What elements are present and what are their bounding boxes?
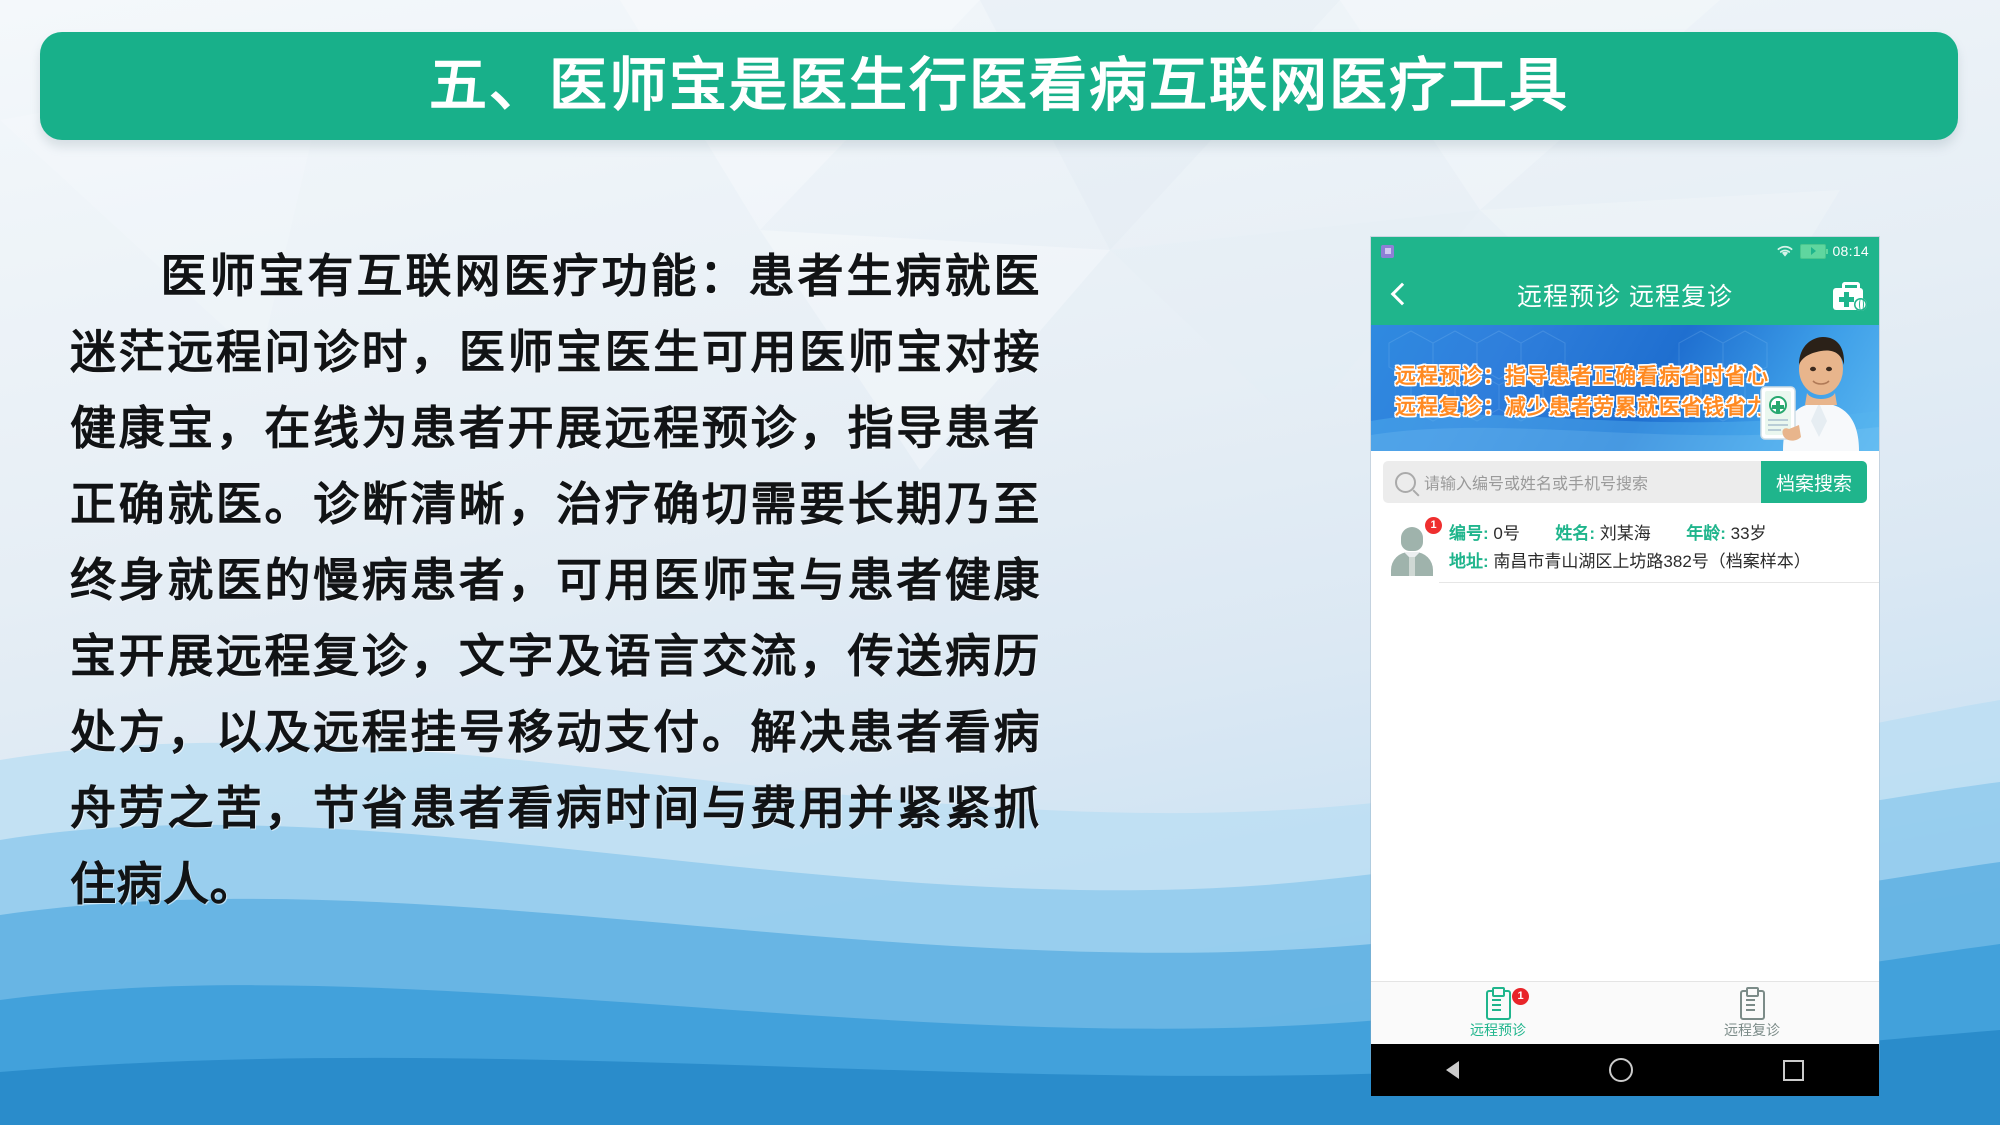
status-bar-right: 08:14 xyxy=(1776,243,1869,259)
patient-name-label: 姓名: xyxy=(1555,524,1595,543)
presentation-slide: 五、医师宝是医生行医看病互联网医疗工具 医师宝有互联网医疗功能：患者生病就医迷茫… xyxy=(0,0,2000,1125)
patient-id-label: 编号: xyxy=(1449,524,1489,543)
app-notification-icon xyxy=(1381,245,1394,258)
body-paragraph: 医师宝有互联网医疗功能：患者生病就医迷茫远程问诊时，医师宝医生可用医师宝对接健康… xyxy=(70,250,1040,910)
back-chevron-icon[interactable] xyxy=(1385,282,1411,308)
tab-remote-pre-consult[interactable]: 远程预诊 1 xyxy=(1371,982,1625,1044)
android-recents-icon[interactable] xyxy=(1783,1060,1804,1081)
archive-search-button[interactable]: 档案搜索 xyxy=(1761,461,1867,503)
app-header-title: 远程预诊 远程复诊 xyxy=(1371,277,1879,313)
doctor-holding-phone-photo xyxy=(1755,325,1875,451)
patient-address-value: 南昌市青山湖区上坊路382号（档案样本） xyxy=(1493,552,1810,571)
bottom-tab-bar: 远程预诊 1 远程复诊 xyxy=(1371,981,1879,1044)
battery-icon xyxy=(1800,244,1826,259)
status-bar-left xyxy=(1381,245,1394,258)
patient-age-value: 33岁 xyxy=(1731,524,1767,543)
banner-line-1: 远程预诊：指导患者正确看病省时省心 xyxy=(1395,361,1769,392)
promo-banner[interactable]: 远程预诊：指导患者正确看病省时省心 远程复诊：减少患者劳累就医省钱省力 xyxy=(1371,325,1879,451)
phone-status-bar: 08:14 xyxy=(1371,237,1879,265)
patient-list-item[interactable]: 1 编号: 0号 姓名: 刘某海 年龄: 33岁 地址: 南昌市青山湖区上坊路3… xyxy=(1371,509,1879,576)
status-bar-clock: 08:14 xyxy=(1832,243,1869,259)
search-input[interactable]: 请输入编号或姓名或手机号搜索 xyxy=(1424,470,1761,494)
patient-address-line: 地址: 南昌市青山湖区上坊路382号（档案样本） xyxy=(1449,552,1811,571)
slide-title-bar: 五、医师宝是医生行医看病互联网医疗工具 xyxy=(40,32,1958,140)
patient-name-value: 刘某海 xyxy=(1600,524,1651,543)
page-title: 五、医师宝是医生行医看病互联网医疗工具 xyxy=(429,57,1569,115)
avatar-badge: 1 xyxy=(1425,517,1442,534)
wifi-icon xyxy=(1776,244,1794,258)
slide-body-text: 医师宝有互联网医疗功能：患者生病就医迷茫远程问诊时，医师宝医生可用医师宝对接健康… xyxy=(70,238,1040,922)
android-back-icon[interactable] xyxy=(1446,1061,1459,1079)
app-header-bar: 远程预诊 远程复诊 xyxy=(1371,265,1879,325)
search-box[interactable]: 请输入编号或姓名或手机号搜索 档案搜索 xyxy=(1383,461,1867,503)
banner-text-block: 远程预诊：指导患者正确看病省时省心 远程复诊：减少患者劳累就医省钱省力 xyxy=(1395,361,1769,423)
phone-mockup: 08:14 远程预诊 远程复诊 xyxy=(1371,237,1879,1059)
banner-line-2: 远程复诊：减少患者劳累就医省钱省力 xyxy=(1395,392,1769,423)
android-navigation-bar xyxy=(1371,1044,1879,1096)
tab-badge: 1 xyxy=(1512,988,1529,1005)
patient-info: 编号: 0号 姓名: 刘某海 年龄: 33岁 地址: 南昌市青山湖区上坊路382… xyxy=(1439,517,1867,576)
search-icon xyxy=(1395,472,1416,493)
tab-label: 远程预诊 xyxy=(1470,1023,1526,1037)
patient-id-value: 0号 xyxy=(1493,524,1519,543)
android-home-icon[interactable] xyxy=(1609,1058,1633,1082)
patient-meta-line: 编号: 0号 姓名: 刘某海 年龄: 33岁 xyxy=(1449,524,1767,543)
tab-remote-follow-up[interactable]: 远程复诊 xyxy=(1625,982,1879,1044)
clipboard-icon xyxy=(1486,990,1511,1020)
clipboard-icon xyxy=(1740,990,1765,1020)
tab-label: 远程复诊 xyxy=(1724,1023,1780,1037)
patient-list-empty-area xyxy=(1371,583,1879,981)
search-row: 请输入编号或姓名或手机号搜索 档案搜索 xyxy=(1371,451,1879,509)
patient-address-label: 地址: xyxy=(1449,552,1489,571)
avatar: 1 xyxy=(1385,519,1439,573)
medical-kit-globe-icon[interactable] xyxy=(1831,280,1865,310)
patient-age-label: 年龄: xyxy=(1686,524,1726,543)
